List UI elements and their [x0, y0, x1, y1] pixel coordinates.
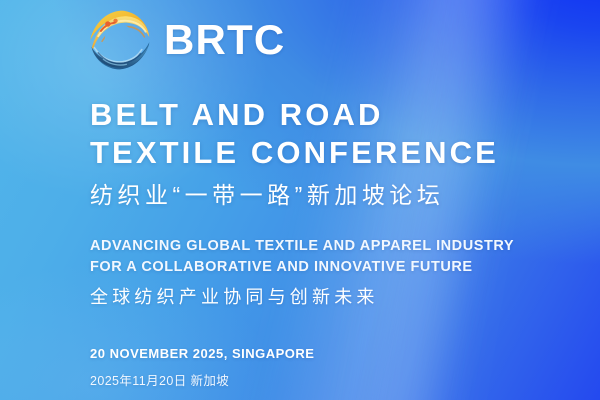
- tagline-line-2: FOR A COLLABORATIVE AND INNOVATIVE FUTUR…: [90, 257, 514, 278]
- event-details: 20 NOVEMBER 2025, SINGAPORE 2025年11月20日 …: [90, 344, 314, 391]
- title-line-2: TEXTILE CONFERENCE: [90, 134, 499, 172]
- event-date-venue-chinese: 2025年11月20日 新加坡: [90, 371, 314, 391]
- event-date-venue-english: 20 NOVEMBER 2025, SINGAPORE: [90, 344, 314, 364]
- brand-lockup: BRTC: [88, 8, 285, 72]
- tagline: ADVANCING GLOBAL TEXTILE AND APPAREL IND…: [90, 236, 514, 311]
- title-line-1: BELT AND ROAD: [90, 96, 499, 134]
- brand-name: BRTC: [164, 19, 285, 61]
- tagline-line-1: ADVANCING GLOBAL TEXTILE AND APPAREL IND…: [90, 236, 514, 257]
- conference-poster: BRTC BELT AND ROAD TEXTILE CONFERENCE 纺织…: [0, 0, 600, 400]
- tagline-chinese: 全球纺织产业协同与创新未来: [90, 283, 514, 311]
- poster-content: BRTC BELT AND ROAD TEXTILE CONFERENCE 纺织…: [0, 0, 600, 400]
- page-title: BELT AND ROAD TEXTILE CONFERENCE 纺织业“一带一…: [90, 96, 499, 212]
- brtc-swirl-globe-icon: [88, 8, 152, 72]
- title-chinese: 纺织业“一带一路”新加坡论坛: [90, 178, 499, 212]
